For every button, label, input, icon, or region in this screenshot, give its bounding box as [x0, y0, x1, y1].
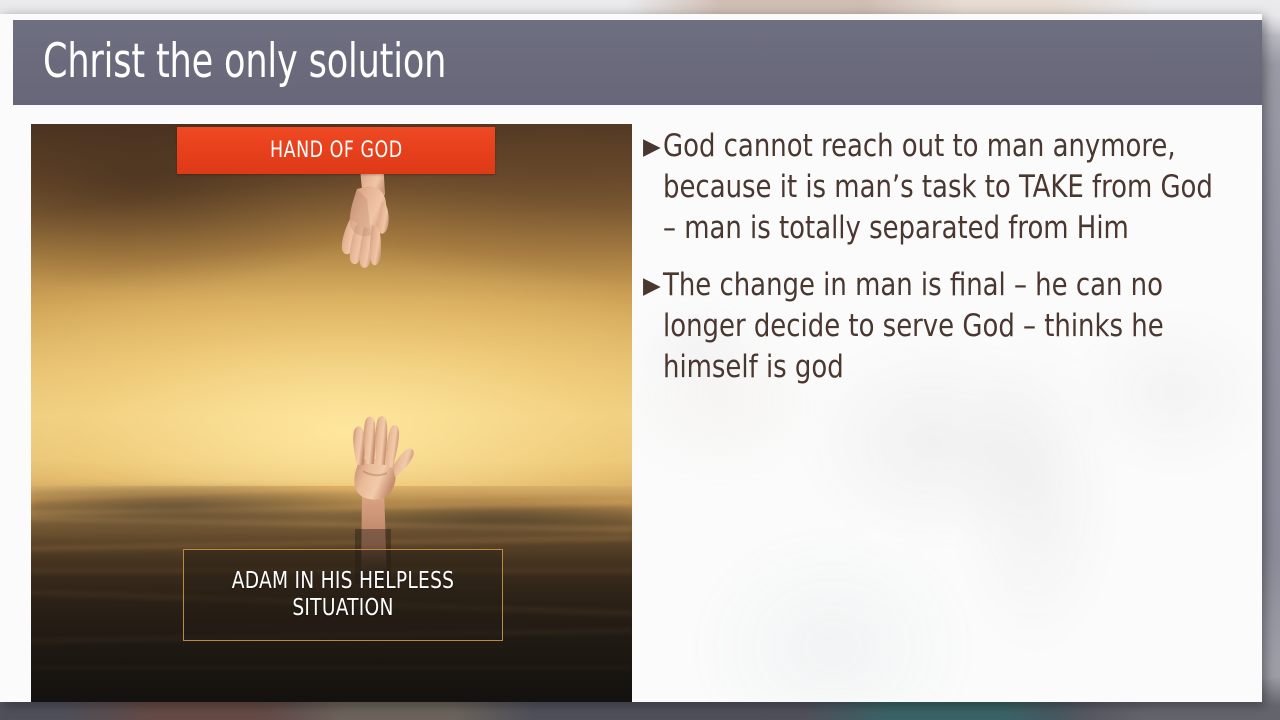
bullet-list: ▶ God cannot reach out to man anymore, b… — [643, 126, 1258, 404]
page-title: Christ the only solution — [43, 38, 446, 85]
hand-of-god-banner-label: HAND OF GOD — [270, 138, 403, 163]
slide-photo: HAND OF GOD ADAM IN HIS HELPLESS SITUATI… — [31, 124, 632, 702]
bullet-triangle-icon: ▶ — [643, 265, 661, 306]
bullet-text: God cannot reach out to man anymore, bec… — [663, 126, 1217, 249]
adam-caption-label: ADAM IN HIS HELPLESS SITUATION — [209, 568, 477, 622]
adam-caption-box: ADAM IN HIS HELPLESS SITUATION — [183, 549, 503, 641]
bullet-triangle-icon: ▶ — [643, 126, 661, 167]
bullet-item: ▶ God cannot reach out to man anymore, b… — [643, 126, 1258, 249]
bullet-text: The change in man is final – he can no l… — [663, 265, 1217, 388]
hand-of-god-banner: HAND OF GOD — [177, 127, 495, 174]
hand-of-god-icon — [323, 159, 401, 289]
slide-title-bar: Christ the only solution — [13, 20, 1262, 105]
presentation-slide: Christ the only solution — [0, 14, 1262, 702]
bullet-item: ▶ The change in man is final – he can no… — [643, 265, 1258, 388]
